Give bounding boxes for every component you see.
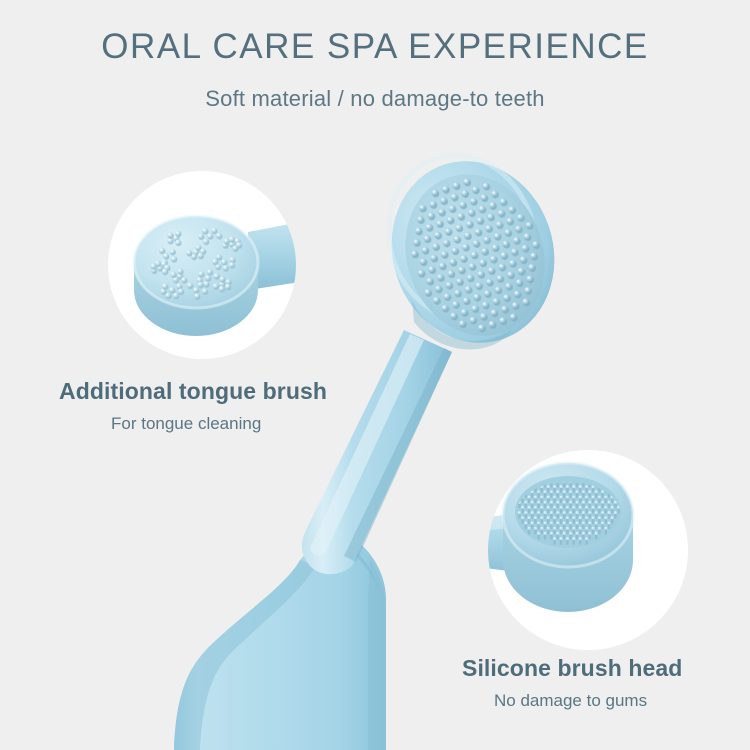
callout-silicone-head: Silicone brush head No damage to gums [462,655,682,711]
page-subtitle: Soft material / no damage-to teeth [0,86,750,112]
handle [174,540,386,750]
callout-silicone-head-subtitle: No damage to gums [494,691,682,711]
inset-tongue-brush [108,171,300,359]
page-title: ORAL CARE SPA EXPERIENCE [0,27,750,67]
callout-tongue-brush-title: Additional tongue brush [59,378,327,405]
callout-tongue-brush-subtitle: For tongue cleaning [111,414,327,434]
callout-tongue-brush: Additional tongue brush For tongue clean… [59,378,327,434]
inset-silicone-head [470,450,688,650]
product-marketing-image: ORAL CARE SPA EXPERIENCE Soft material /… [0,0,750,750]
product-illustration [0,0,750,750]
callout-silicone-head-title: Silicone brush head [462,655,682,682]
